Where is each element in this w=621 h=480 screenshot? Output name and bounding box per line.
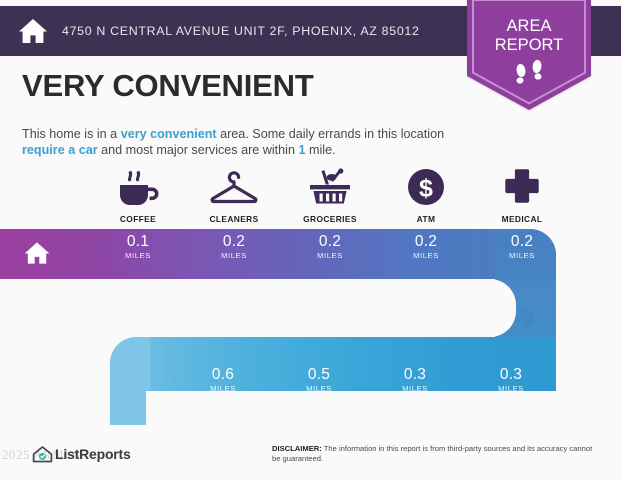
- hanger-icon: [208, 165, 260, 207]
- category-label: GROCERIES: [303, 214, 357, 224]
- distance-unit: MILES: [271, 384, 367, 393]
- distance-value: 0.6: [175, 366, 271, 383]
- page-title: VERY CONVENIENT: [22, 70, 314, 101]
- distance-gym: 0.3 MILES: [463, 366, 559, 393]
- brand-name: ListReports: [55, 446, 131, 462]
- distance-gas: 0.6 MILES: [175, 366, 271, 393]
- medical-icon: [503, 165, 541, 207]
- distance-value: 0.2: [186, 233, 282, 250]
- intro-text-3: and most major services are within: [98, 143, 299, 157]
- distance-atm: 0.2 MILES: [378, 233, 474, 260]
- distance-value: 0.2: [378, 233, 474, 250]
- distance-unit: MILES: [463, 384, 559, 393]
- intro-text-1: This home is in a: [22, 127, 121, 141]
- distance-value: 0.2: [282, 233, 378, 250]
- basket-icon: [307, 165, 353, 207]
- area-report-page: 4750 N CENTRAL AVENUE UNIT 2F, PHOENIX, …: [0, 0, 621, 480]
- distance-movie-theater: 0.5 MILES: [271, 366, 367, 393]
- distance-unit: MILES: [90, 251, 186, 260]
- badge-line1: AREA: [507, 17, 552, 35]
- category-label: ATM: [417, 214, 436, 224]
- category-icon-row-1: COFFEE CLEANERS: [90, 165, 572, 224]
- distance-unit: MILES: [367, 384, 463, 393]
- distance-value: 0.3: [463, 366, 559, 383]
- area-report-badge: AREA REPORT: [467, 0, 591, 110]
- intro-text-4: mile.: [306, 143, 336, 157]
- category-cleaners: CLEANERS: [186, 165, 282, 224]
- category-label: CLEANERS: [209, 214, 258, 224]
- distance-values-row-1: 0.1 MILES 0.2 MILES 0.2 MILES 0.2 MILES …: [90, 233, 572, 260]
- distance-medical: 0.2 MILES: [474, 233, 570, 260]
- distance-coffee: 0.1 MILES: [90, 233, 186, 260]
- distance-value: 0.2: [474, 233, 570, 250]
- distance-value: 0.5: [271, 366, 367, 383]
- listreports-logo-icon: [32, 445, 53, 464]
- badge-line2: REPORT: [495, 36, 563, 54]
- intro-highlight-distance: 1: [298, 143, 305, 157]
- distance-value: 0.1: [90, 233, 186, 250]
- distance-unit: MILES: [175, 384, 271, 393]
- distance-values-row-2: 0.6 MILES 0.5 MILES 0.3 MILES 0.3 MILES: [175, 366, 565, 393]
- distance-pharmacy: 0.3 MILES: [367, 366, 463, 393]
- category-label: COFFEE: [120, 214, 156, 224]
- disclaimer-label: DISCLAIMER:: [272, 444, 322, 453]
- disclaimer: DISCLAIMER: The information in this repo…: [272, 444, 594, 465]
- distance-unit: MILES: [474, 251, 570, 260]
- intro-text-2: area. Some daily errands in this locatio…: [217, 127, 445, 141]
- category-coffee: COFFEE: [90, 165, 186, 224]
- coffee-icon: [116, 165, 160, 207]
- distance-value: 0.3: [367, 366, 463, 383]
- home-icon: [16, 14, 50, 48]
- property-address: 4750 N CENTRAL AVENUE UNIT 2F, PHOENIX, …: [62, 24, 420, 38]
- intro-highlight-car: require a car: [22, 143, 98, 157]
- listreports-brand[interactable]: ListReports: [32, 444, 131, 464]
- svg-text:$: $: [419, 175, 433, 203]
- category-medical: MEDICAL: [474, 165, 570, 224]
- category-label: MEDICAL: [502, 214, 543, 224]
- distance-unit: MILES: [282, 251, 378, 260]
- category-atm: $ ATM: [378, 165, 474, 224]
- intro-paragraph: This home is in a very convenient area. …: [22, 126, 450, 158]
- distance-unit: MILES: [378, 251, 474, 260]
- distance-unit: MILES: [186, 251, 282, 260]
- distance-groceries: 0.2 MILES: [282, 233, 378, 260]
- home-marker-icon: [22, 238, 52, 268]
- category-groceries: GROCERIES: [282, 165, 378, 224]
- distance-cleaners: 0.2 MILES: [186, 233, 282, 260]
- intro-highlight-convenience: very convenient: [121, 127, 217, 141]
- dollar-icon: $: [406, 165, 446, 207]
